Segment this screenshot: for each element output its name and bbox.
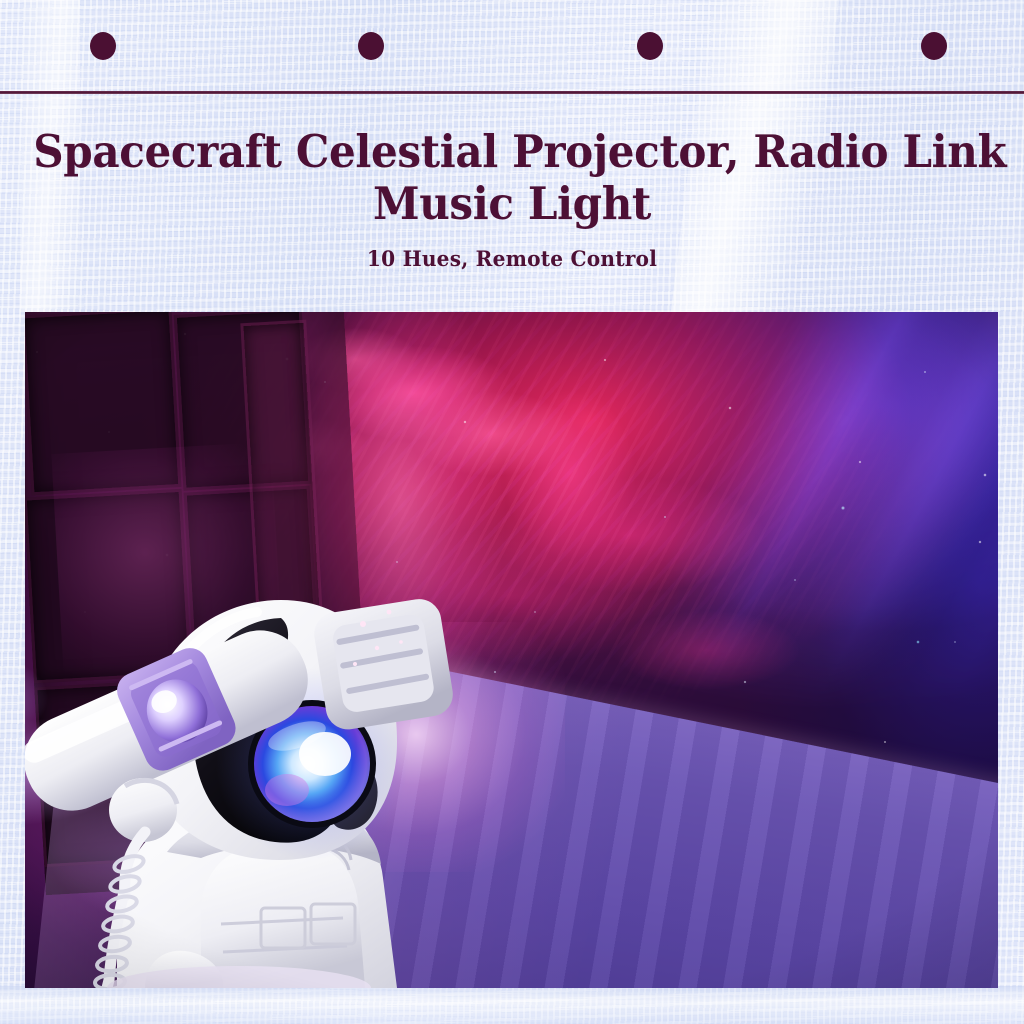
punch-dot-3 — [637, 32, 663, 60]
punch-dot-2 — [358, 32, 384, 60]
heading-block: Spacecraft Celestial Projector, Radio Li… — [0, 126, 1024, 272]
poster-canvas: Spacecraft Celestial Projector, Radio Li… — [0, 0, 1024, 1024]
purple-vent-right — [311, 596, 456, 733]
punch-dot-1 — [90, 32, 116, 60]
header-divider-rule — [0, 91, 1024, 94]
page-title-line-2: Music Light — [33, 178, 990, 230]
page-subtitle: 10 Hues, Remote Control — [20, 246, 1003, 272]
page-title-line-1: Spacecraft Celestial Projector, Radio Li… — [33, 126, 990, 178]
product-photo — [25, 312, 998, 988]
punch-dot-4 — [921, 32, 947, 60]
astronaut-star-projector — [25, 312, 998, 988]
